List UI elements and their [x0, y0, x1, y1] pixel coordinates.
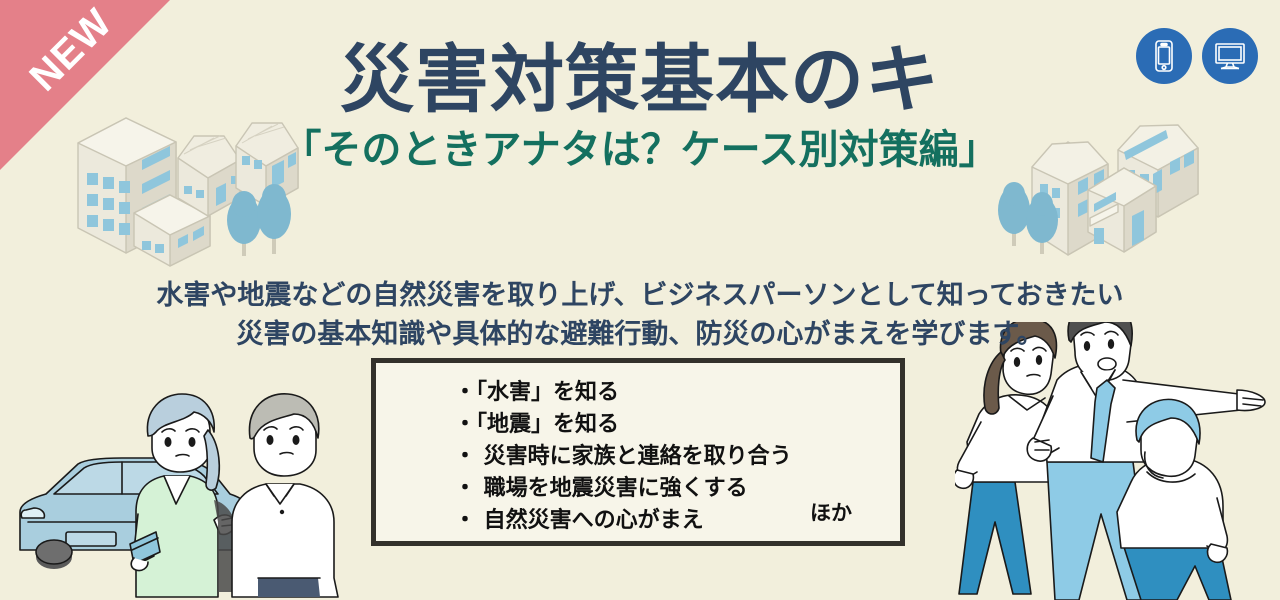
page-subtitle: 「そのときアナタは？ケース別対策編」: [0, 128, 1280, 172]
new-ribbon: NEW: [0, 0, 170, 170]
list-item: ・「水害」を知る: [454, 377, 900, 409]
list-item: ・ 災害時に家族と連絡を取り合う: [454, 441, 900, 473]
desktop-monitor-icon: [1202, 28, 1258, 84]
title-block: 災害対策基本のキ 「そのときアナタは？ケース別対策編」: [0, 42, 1280, 172]
topics-extra-label: ほか: [810, 497, 852, 527]
course-banner: NEW 災害対策基本のキ 「そのときアナタは？ケース別対策編」: [0, 0, 1280, 600]
smartphone-icon: [1136, 28, 1192, 84]
people-left-illustration: [18, 392, 348, 600]
description-line-1: 水害や地震などの自然災害を取り上げ、ビジネスパーソンとして知っておきたい: [0, 276, 1280, 315]
page-title: 災害対策基本のキ: [0, 42, 1280, 120]
topics-box: ・「水害」を知る ・「地震」を知る ・ 災害時に家族と連絡を取り合う ・ 職場を…: [371, 358, 905, 546]
people-right-illustration: [955, 322, 1280, 600]
list-item: ・「地震」を知る: [454, 409, 900, 441]
course-description: 水害や地震などの自然災害を取り上げ、ビジネスパーソンとして知っておきたい 災害の…: [0, 276, 1280, 354]
device-icons-group: [1136, 28, 1258, 84]
description-line-2: 災害の基本知識や具体的な避難行動、防災の心がまえを学びます。: [0, 315, 1280, 354]
